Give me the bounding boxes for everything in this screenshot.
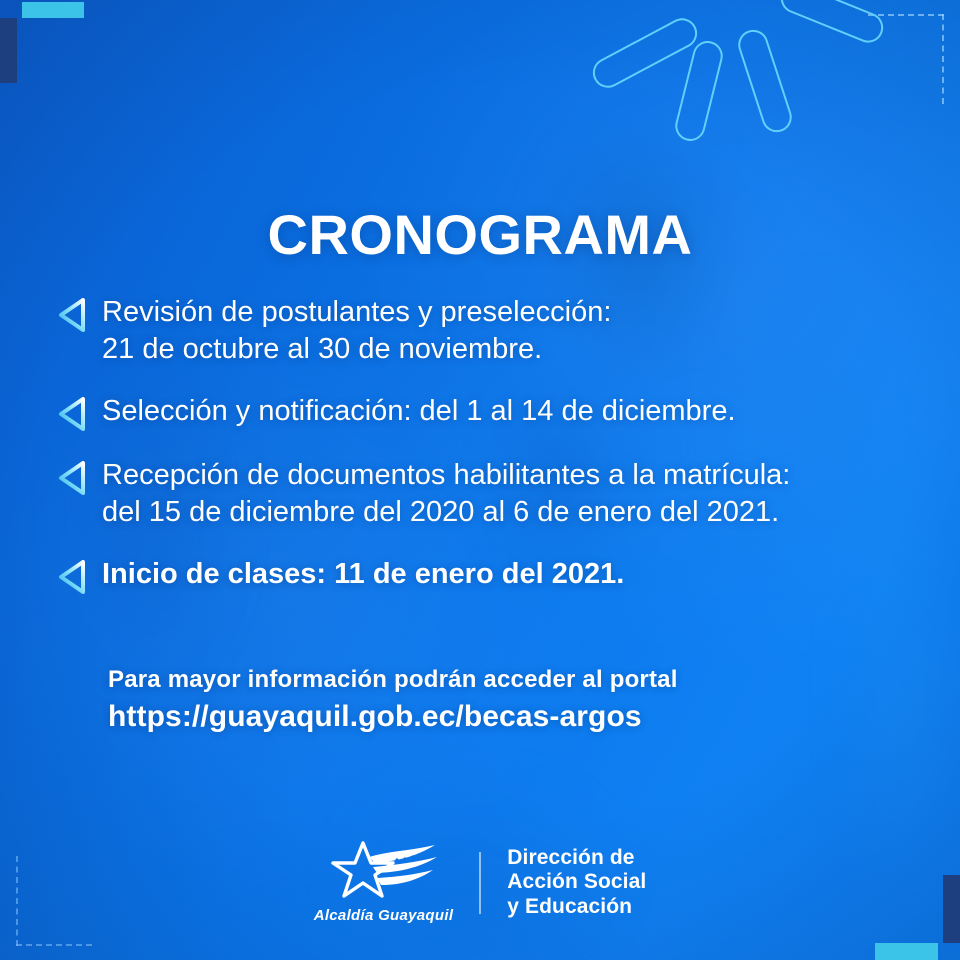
list-item-label: Selección y notificación: del 1 al 14 de… [102, 393, 736, 430]
dashed-line-horizontal [16, 944, 92, 946]
alcaldia-brand-name: Alcaldía Guayaquil [314, 907, 454, 924]
triangle-left-icon [58, 298, 88, 332]
list-item-label: Inicio de clases: 11 de enero del 2021. [102, 556, 624, 593]
list-item: Selección y notificación: del 1 al 14 de… [58, 393, 920, 431]
schedule-list: Revisión de postulantes y preselección: … [58, 294, 920, 620]
cyan-accent-bar-top-left [22, 2, 84, 18]
portal-intro-text: Para mayor información podrán acceder al… [108, 666, 678, 694]
triangle-left-icon [58, 397, 88, 431]
list-item: Recepción de documentos habilitantes a l… [58, 457, 920, 530]
capsule-burst-graphic [580, 0, 910, 160]
cyan-accent-bar-bottom-right [875, 943, 938, 960]
department-name: Dirección de Acción Social y Educación [507, 846, 646, 919]
alcaldia-brand: Alcaldía Guayaquil [314, 841, 454, 924]
capsule-icon-3 [734, 26, 795, 136]
portal-info: Para mayor información podrán acceder al… [108, 666, 678, 734]
capsule-icon-2 [672, 38, 726, 144]
capsule-icon-4 [776, 0, 887, 47]
dashed-line-vertical [942, 14, 944, 104]
triangle-left-icon [58, 560, 88, 594]
portal-url-link[interactable]: https://guayaquil.gob.ec/becas-argos [108, 700, 678, 734]
triangle-left-icon [58, 461, 88, 495]
star-swoosh-logo [323, 841, 443, 904]
navy-accent-bar-top-left [0, 18, 17, 83]
list-item: Inicio de clases: 11 de enero del 2021. [58, 556, 920, 594]
list-item-label: Recepción de documentos habilitantes a l… [102, 457, 790, 530]
footer-logo-lockup: Alcaldía Guayaquil Dirección de Acción S… [0, 841, 960, 924]
page-title: CRONOGRAMA [0, 202, 960, 267]
poster-canvas: CRONOGRAMA Revisión de postulantes y pre… [0, 0, 960, 960]
list-item-label: Revisión de postulantes y preselección: … [102, 294, 611, 367]
logo-divider [479, 852, 481, 914]
list-item: Revisión de postulantes y preselección: … [58, 294, 920, 367]
